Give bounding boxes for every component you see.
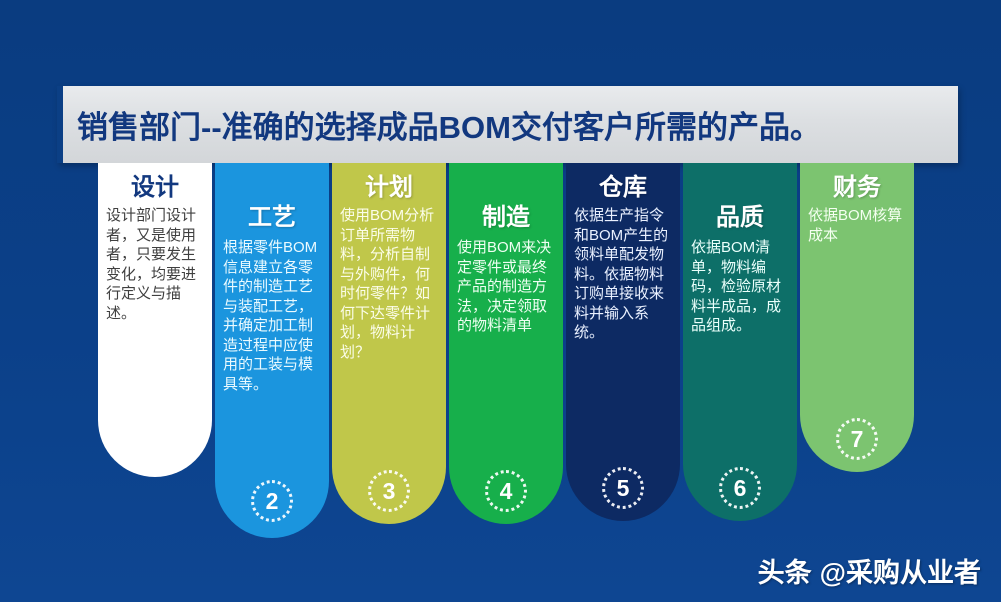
column-body: 设计部门设计者，又是使用者，只要发生变化，均要进行定义与描述。 (106, 200, 204, 323)
column-heading: 制造 (457, 163, 555, 230)
step-badge: 5 (602, 467, 644, 509)
slide-canvas: 销售部门--准确的选择成品BOM交付客户所需的产品。 设计 设计部门设计者，又是… (0, 0, 1001, 602)
step-badge: 4 (485, 470, 527, 512)
column-planning[interactable]: 计划 使用BOM分析订单所需物料，分析自制与外购件，何时何零件？如何下达零件计划… (332, 163, 446, 524)
column-body: 使用BOM来决定零件或最终产品的制造方法，决定领取的物料清单 (457, 230, 555, 336)
column-body: 根据零件BOM信息建立各零件的制造工艺与装配工艺，并确定加工制造过程中应使用的工… (223, 230, 321, 394)
column-warehouse[interactable]: 仓库 依据生产指令和BOM产生的领料单配发物料。依据物料订购单接收来料并输入系统… (566, 163, 680, 521)
column-heading: 工艺 (223, 163, 321, 230)
watermark-platform: 头条 (758, 551, 812, 590)
column-heading: 设计 (106, 163, 204, 200)
column-body: 依据生产指令和BOM产生的领料单配发物料。依据物料订购单接收来料并输入系统。 (574, 200, 672, 343)
watermark: 头条 @采购从业者 (758, 551, 981, 590)
column-heading: 仓库 (574, 163, 672, 200)
step-badge: 7 (836, 418, 878, 460)
column-process[interactable]: 工艺 根据零件BOM信息建立各零件的制造工艺与装配工艺，并确定加工制造过程中应使… (215, 163, 329, 538)
title-accent-bar (57, 86, 63, 163)
step-badge: 6 (719, 467, 761, 509)
column-body: 依据BOM核算成本 (808, 200, 906, 245)
column-manufacturing[interactable]: 制造 使用BOM来决定零件或最终产品的制造方法，决定领取的物料清单 4 (449, 163, 563, 524)
column-heading: 品质 (691, 163, 789, 230)
column-body: 依据BOM清单，物料编码，检验原材料半成品，成品组成。 (691, 230, 789, 336)
column-body: 使用BOM分析订单所需物料，分析自制与外购件，何时何零件？如何下达零件计划，物料… (340, 200, 438, 362)
step-badge: 2 (251, 480, 293, 522)
column-quality[interactable]: 品质 依据BOM清单，物料编码，检验原材料半成品，成品组成。 6 (683, 163, 797, 521)
column-heading: 计划 (340, 163, 438, 200)
title-bar: 销售部门--准确的选择成品BOM交付客户所需的产品。 (57, 86, 958, 163)
watermark-handle: @采购从业者 (820, 551, 981, 590)
step-badge: 3 (368, 470, 410, 512)
column-heading: 财务 (808, 163, 906, 200)
column-design[interactable]: 设计 设计部门设计者，又是使用者，只要发生变化，均要进行定义与描述。 (98, 163, 212, 477)
page-title: 销售部门--准确的选择成品BOM交付客户所需的产品。 (77, 102, 821, 147)
column-finance[interactable]: 财务 依据BOM核算成本 7 (800, 163, 914, 472)
